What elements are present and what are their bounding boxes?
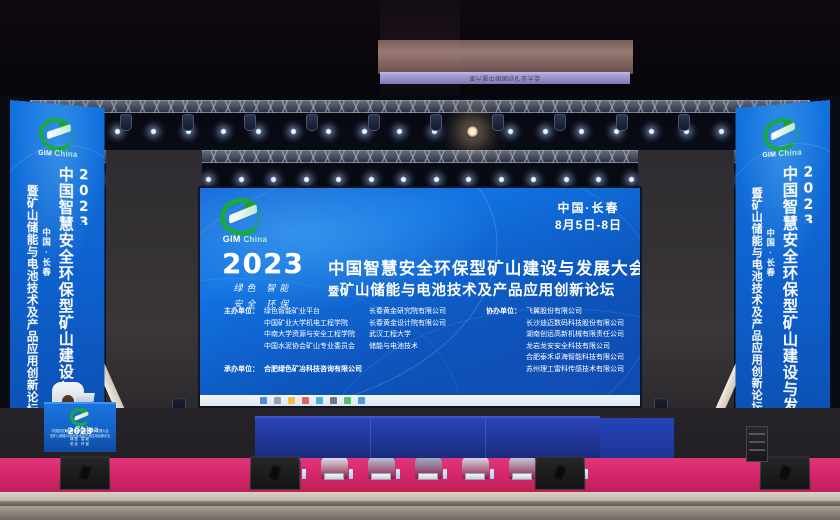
ceiling-shadow-left xyxy=(0,0,380,96)
search-icon[interactable] xyxy=(274,397,281,404)
truss-lamp-7 xyxy=(290,128,297,135)
banner-year-left: 2023 xyxy=(76,167,91,225)
nameplate-5 xyxy=(512,473,532,480)
podium-slogan2: 安全 环保 xyxy=(44,442,116,447)
truss-lamp-6 xyxy=(255,128,262,135)
logo-region: China xyxy=(243,235,267,244)
truss-lamp-19 xyxy=(718,128,725,135)
water-bottle-1 xyxy=(349,469,353,479)
wps-icon[interactable] xyxy=(302,397,309,404)
truss-lamp-lower-16 xyxy=(563,176,570,183)
browser-icon[interactable] xyxy=(330,397,337,404)
host-list-col2: 长春黄金研究院有限公司长春黄金设计院有限公司武汉工程大学储能与电池技术 xyxy=(369,306,446,375)
moving-head-6 xyxy=(430,114,442,131)
ceiling-beam xyxy=(378,40,633,74)
explorer-icon[interactable] xyxy=(260,397,267,404)
event-title-sub-text: 矿山储能与电池技术及产品应用创新论坛 xyxy=(340,283,615,299)
truss-lamp-lower-17 xyxy=(595,176,602,183)
podium-year-block: 2023 绿色 智能 安全 环保 xyxy=(44,427,116,447)
speaking-podium: GIM China 中国智慧安全环保型矿山建设与发展大会 暨矿山储能与电池技术及… xyxy=(44,402,116,452)
nameplate-3 xyxy=(418,473,438,480)
coorganizer-item-5: 苏州理工雷科传感技术有限公司 xyxy=(526,364,624,376)
host-item2-3: 储能与电池技术 xyxy=(369,341,446,353)
coorganizer-item-3: 龙岩龙安安全科技有限公司 xyxy=(526,341,624,353)
banner-year-right: 2023 xyxy=(800,164,816,223)
undertaker-label: 承办单位： xyxy=(224,364,259,374)
truss-lamp-lower-14 xyxy=(498,176,505,183)
nameplate-4 xyxy=(465,473,485,480)
truss-lamp-lower-6 xyxy=(238,176,245,183)
water-bottle-0 xyxy=(302,469,306,479)
stage-monitor-1 xyxy=(60,457,111,490)
truss-lamp-14 xyxy=(542,128,549,135)
truss-lamp-lower-7 xyxy=(270,176,277,183)
coorganizer-item-1: 长沙迪迈数码科技股份有限公司 xyxy=(526,318,624,330)
gim-logo-main: GIM China xyxy=(214,198,276,248)
conference-stage-photo: 第六届中国国际矿业大会 xyxy=(0,0,840,520)
event-title-main: 中国智慧安全环保型矿山建设与发展大会 xyxy=(328,259,642,280)
truss-lamp-lower-15 xyxy=(530,176,537,183)
nameplate-2 xyxy=(371,473,391,480)
moving-head-4 xyxy=(306,114,318,131)
stage-monitor-3 xyxy=(535,457,586,490)
logo-region: China xyxy=(54,149,77,159)
moving-head-7 xyxy=(492,114,504,131)
moving-head-1 xyxy=(120,114,132,131)
event-year: 2023 xyxy=(222,250,304,278)
gim-logo-banner-right: GIM China xyxy=(756,116,809,164)
truss-lamp-13 xyxy=(507,128,514,135)
truss-lamp-lower-18 xyxy=(628,176,635,183)
mail-icon[interactable] xyxy=(316,397,323,404)
truss-lamp-lower-13 xyxy=(465,176,472,183)
coorganizer-item-2: 湖南创远高新机械有限责任公司 xyxy=(526,329,624,341)
host-item-1: 中国矿业大学机电工程学院 xyxy=(264,318,355,330)
water-bottle-3 xyxy=(443,469,447,479)
logo-brand: GIM xyxy=(223,234,241,244)
coorganizer-label: 协办单位： xyxy=(486,306,521,375)
water-bottle-2 xyxy=(396,469,400,479)
truss-lights-row-upper xyxy=(30,120,810,142)
truss-lamp-9 xyxy=(361,128,368,135)
undertaker-row: 承办单位： 合肥绿色矿冶科技咨询有限公司 xyxy=(224,364,362,374)
water-bottle-4 xyxy=(490,469,494,479)
truss-lamp-3 xyxy=(150,128,157,135)
event-title-block: 2023 绿色 智能 安全 环保 中国智慧安全环保型矿山建设与发展大会 暨矿山储… xyxy=(222,250,626,310)
main-led-screen: GIM China 中国·长春 8月5日-8日 2023 绿色 智能 安全 环保… xyxy=(198,186,642,408)
moving-head-9 xyxy=(616,114,628,131)
event-city: 中国·长春 xyxy=(555,200,622,217)
nameplate-1 xyxy=(324,473,344,480)
podium-year: 2023 xyxy=(44,427,116,437)
moving-head-2 xyxy=(182,114,194,131)
venue-sign-text: 第六届中国国际矿业大会 xyxy=(469,74,541,83)
windows-taskbar[interactable] xyxy=(200,395,640,406)
truss-lamp-lower-5 xyxy=(205,176,212,183)
event-place-date: 中国·长春 8月5日-8日 xyxy=(555,200,622,235)
truss-lamp-lower-9 xyxy=(335,176,342,183)
coorganizer-list: 飞翼股份有限公司长沙迪迈数码科技股份有限公司湖南创远高新机械有限责任公司龙岩龙安… xyxy=(526,306,624,375)
stage-monitor-2 xyxy=(250,457,301,490)
stage-front-ledge xyxy=(0,492,840,520)
truss-lamp-lower-12 xyxy=(433,176,440,183)
video-icon[interactable] xyxy=(358,397,365,404)
venue-sign: 第六届中国国际矿业大会 xyxy=(380,72,630,84)
truss-lamp-8 xyxy=(325,128,332,135)
event-slogan-line1: 绿色 智能 xyxy=(222,281,304,294)
logo-region: China xyxy=(778,148,802,158)
coorganizer-item-4: 合肥泰禾卓海智能科技有限公司 xyxy=(526,352,624,364)
truss-lamp-lower-11 xyxy=(400,176,407,183)
moving-head-8 xyxy=(554,114,566,131)
event-title-sub: 暨矿山储能与电池技术及产品应用创新论坛 xyxy=(328,282,642,301)
host-item2-1: 长春黄金设计院有限公司 xyxy=(369,318,446,330)
host-item-2: 中南大学资源与安全工程学院 xyxy=(264,329,355,341)
moving-head-3 xyxy=(244,114,256,131)
truss-lamp-12 xyxy=(466,125,479,138)
undertaker-name: 合肥绿色矿冶科技咨询有限公司 xyxy=(264,364,362,374)
truss-lamp-10 xyxy=(396,128,403,135)
truss-lamp-lower-10 xyxy=(368,176,375,183)
truss-lamp-15 xyxy=(578,128,585,135)
panel-table xyxy=(255,416,600,458)
event-title-sub-prefix: 暨 xyxy=(328,285,340,298)
truss-lamp-lower-8 xyxy=(303,176,310,183)
gim-logo-banner-left: GIM China xyxy=(31,116,84,164)
truss-lamp-5 xyxy=(220,128,227,135)
pa-speaker-stack xyxy=(746,426,768,462)
moving-head-10 xyxy=(678,114,690,131)
truss-bar-upper xyxy=(30,100,810,113)
weixin-icon[interactable] xyxy=(344,397,351,404)
logo-brand: GIM xyxy=(38,150,52,158)
folder-icon[interactable] xyxy=(288,397,295,404)
host-item-0: 绿色智能矿业平台 xyxy=(264,306,355,318)
moving-head-5 xyxy=(368,114,380,131)
host-item-3: 中国水泥协会矿山专业委员会 xyxy=(264,341,355,353)
coorganizer-item-0: 飞翼股份有限公司 xyxy=(526,306,624,318)
truss-lamp-17 xyxy=(648,128,655,135)
event-dates: 8月5日-8日 xyxy=(555,217,622,234)
host-item2-2: 武汉工程大学 xyxy=(369,329,446,341)
venue-ceiling: 第六届中国国际矿业大会 xyxy=(0,0,840,96)
host-item2-0: 长春黄金研究院有限公司 xyxy=(369,306,446,318)
logo-brand: GIM xyxy=(762,151,776,159)
